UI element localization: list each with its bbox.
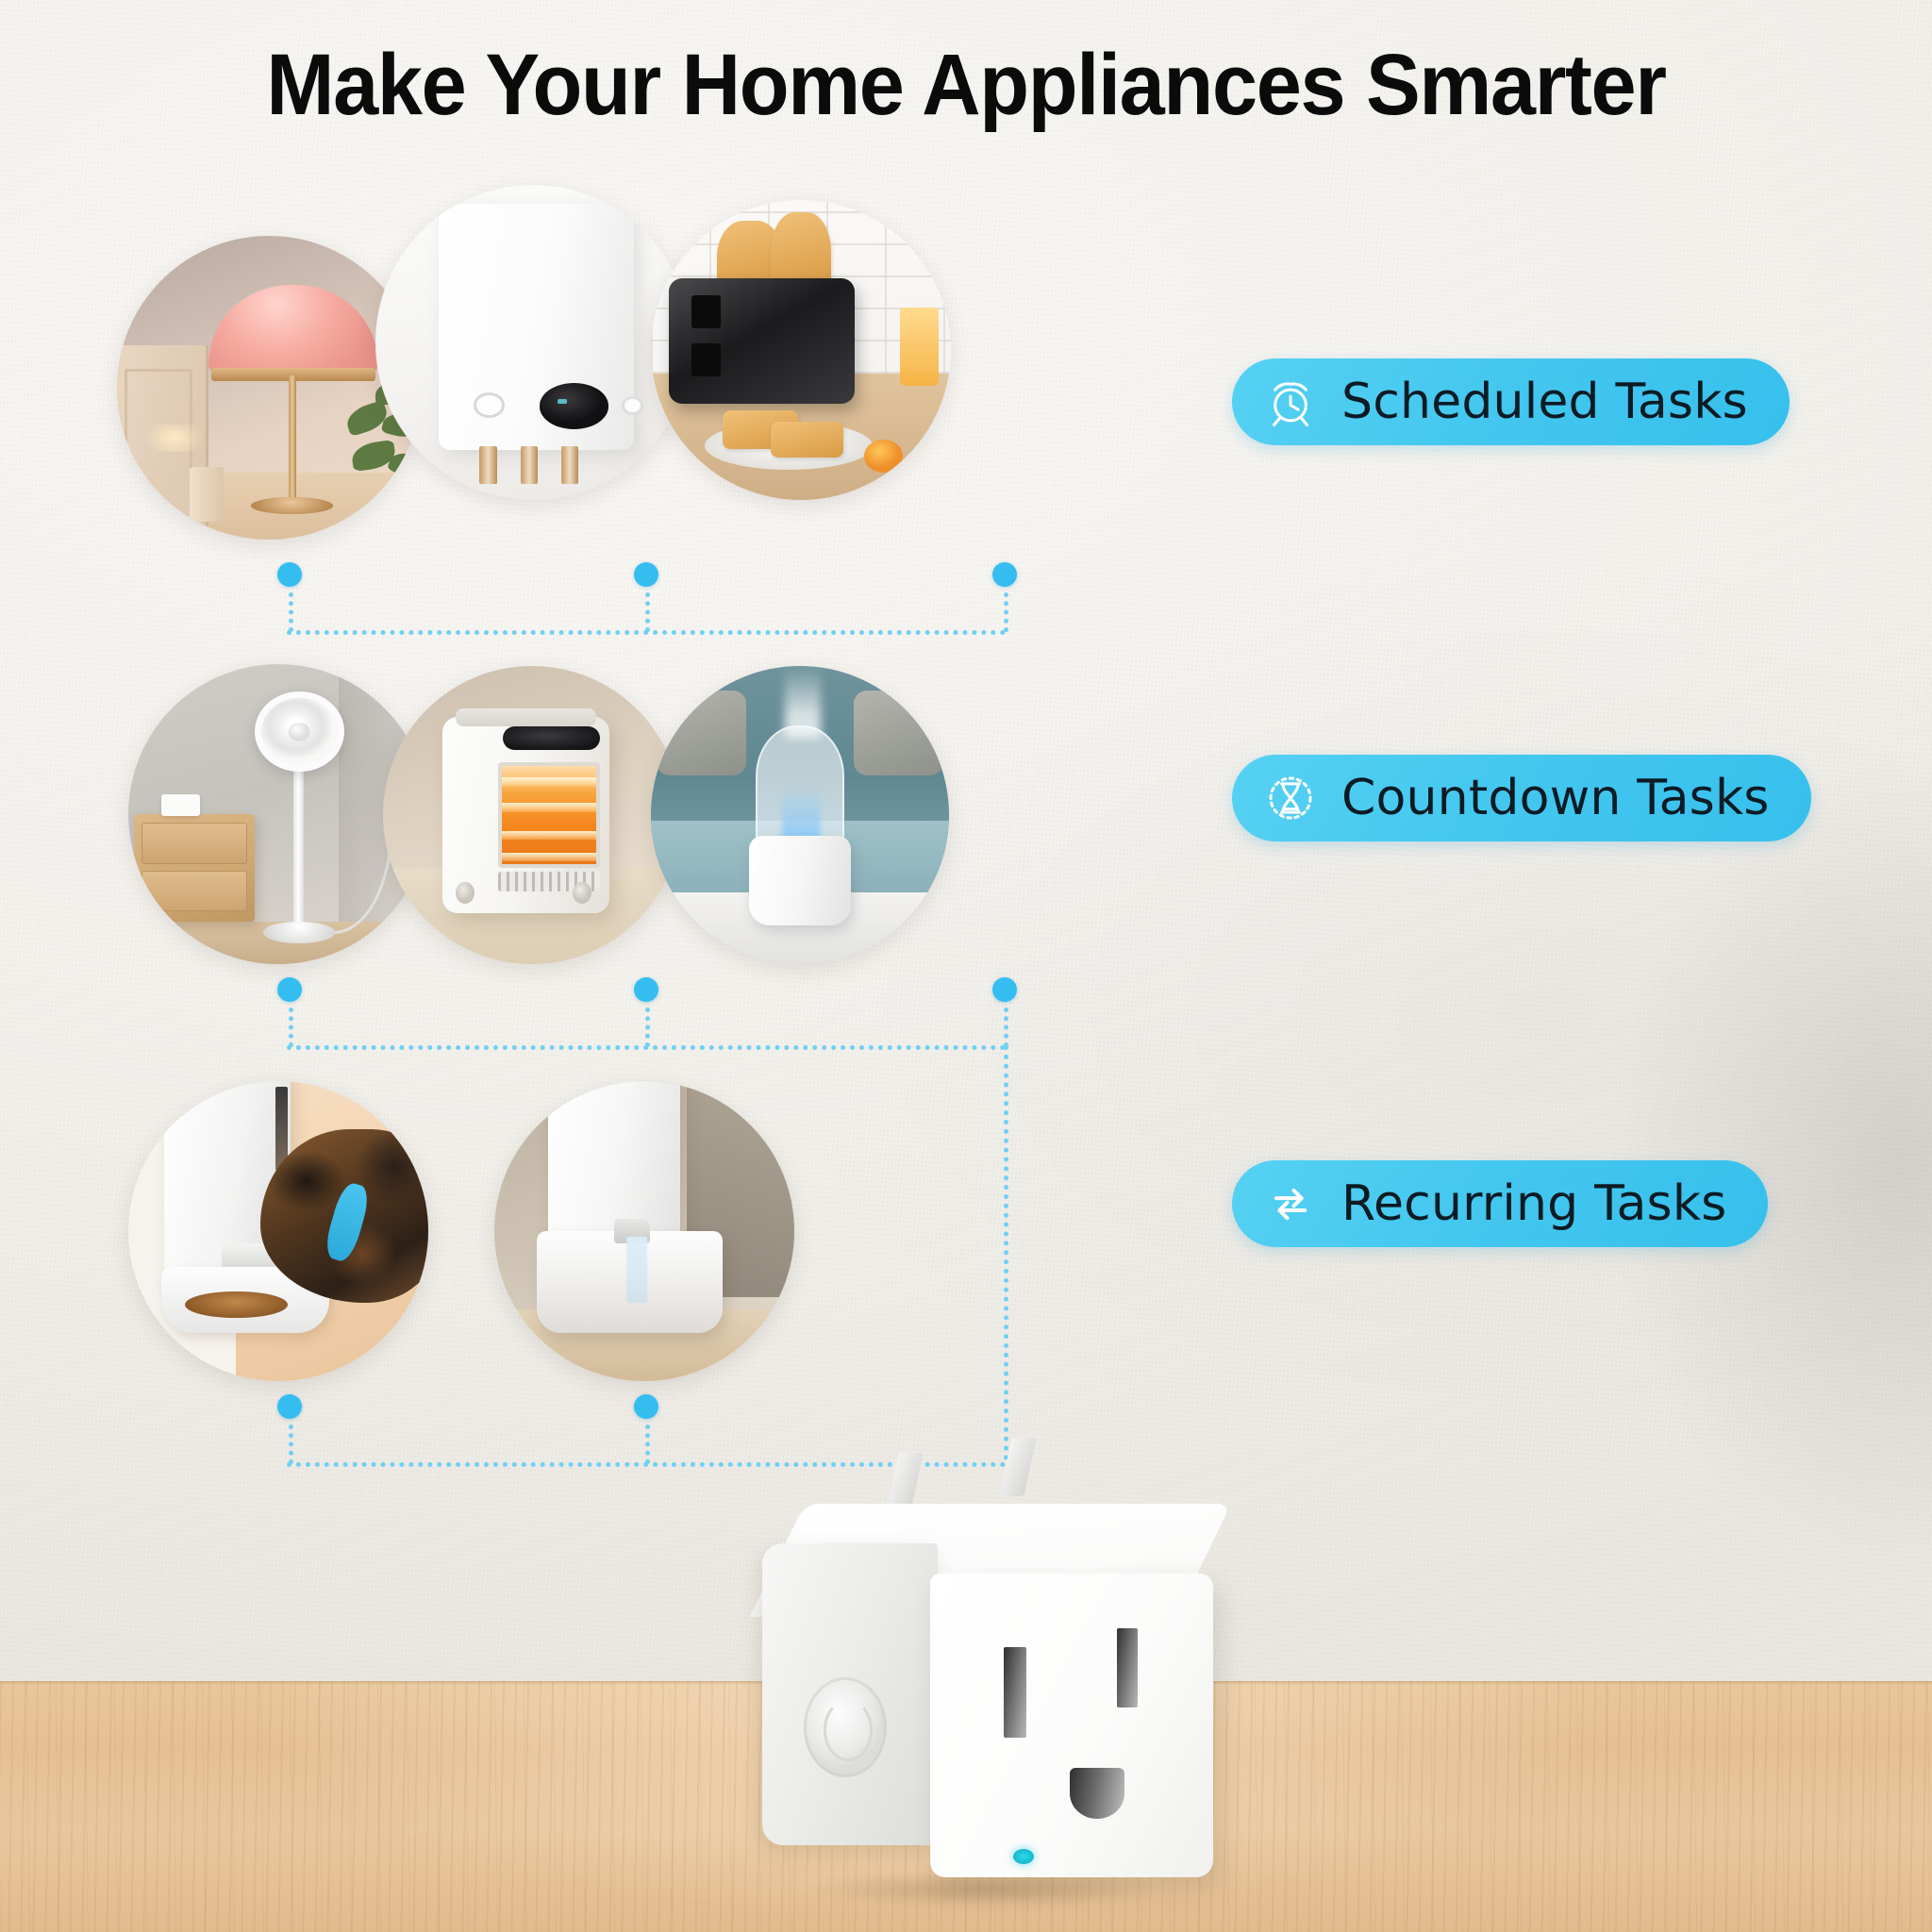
plug-prong-left: [886, 1453, 923, 1511]
power-button[interactable]: [804, 1677, 887, 1777]
connector-dot-pet-feeder: [277, 1394, 302, 1419]
outlet-ground-hole: [1070, 1768, 1124, 1819]
appliance-tile-humidifier: [651, 666, 949, 964]
repeat-arrows-icon: [1264, 1177, 1317, 1230]
alarm-clock-icon: [1264, 375, 1317, 428]
connector-line-humidifier: [1004, 1008, 1008, 1047]
status-led: [1013, 1849, 1034, 1864]
appliance-tile-water-heater: [375, 185, 691, 500]
connector-dot-water-heater: [634, 562, 658, 587]
connector-line-water-heater: [645, 592, 650, 632]
connector-line-pet-feeder: [289, 1424, 293, 1464]
product-marketing-image: Make Your Home Appliances Smarter: [0, 0, 1932, 1932]
outlet-slot-neutral: [1004, 1647, 1026, 1738]
connector-dot-space-heater: [634, 977, 658, 1002]
connector-dot-fan: [277, 977, 302, 1002]
connector-dot-lamp: [277, 562, 302, 587]
connector-line-space-heater: [645, 1008, 650, 1047]
appliance-tile-pet-feeder: [128, 1081, 428, 1381]
outlet-slot-hot: [1117, 1628, 1138, 1707]
badge-scheduled-tasks[interactable]: Scheduled Tasks: [1232, 358, 1790, 445]
connector-line-fan: [289, 1008, 293, 1047]
connector-dot-pet-fountain: [634, 1394, 658, 1419]
connector-bus-row2: [287, 1045, 1006, 1050]
appliance-tile-space-heater: [383, 666, 681, 964]
badge-label: Scheduled Tasks: [1341, 374, 1748, 430]
badge-countdown-tasks[interactable]: Countdown Tasks: [1232, 755, 1811, 841]
appliance-tile-toaster: [651, 200, 951, 500]
badge-label: Recurring Tasks: [1341, 1175, 1726, 1232]
connector-line-pet-fountain: [645, 1424, 650, 1464]
badge-recurring-tasks[interactable]: Recurring Tasks: [1232, 1160, 1768, 1247]
hourglass-icon: [1264, 772, 1317, 824]
connector-bus-row1: [287, 630, 1006, 635]
connector-line-toaster: [1004, 592, 1008, 632]
badge-label: Countdown Tasks: [1341, 770, 1770, 826]
appliance-tile-pet-water-fountain: [494, 1081, 794, 1381]
plug-side-face: [762, 1543, 938, 1845]
plug-outlet-face: [930, 1574, 1213, 1877]
smart-plug-product: [755, 1453, 1283, 1924]
connector-dot-toaster: [992, 562, 1017, 587]
connector-dot-humidifier: [992, 977, 1017, 1002]
connector-line-to-plug: [1004, 1045, 1008, 1460]
page-title: Make Your Home Appliances Smarter: [58, 36, 1874, 135]
connector-line-lamp: [289, 592, 293, 632]
